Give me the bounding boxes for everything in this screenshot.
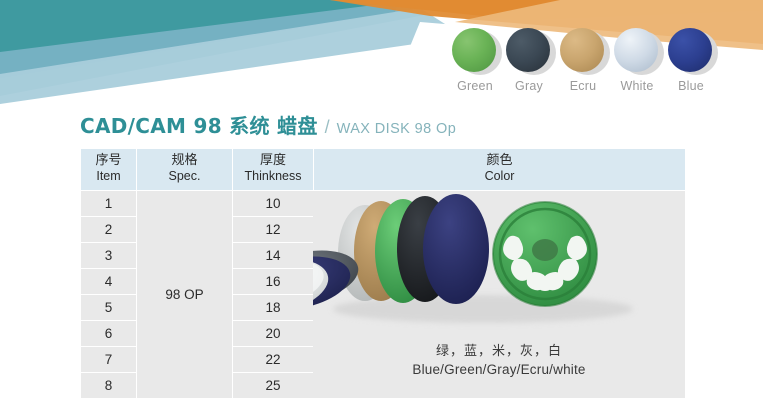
swatch-label-blue: Blue [664, 79, 718, 93]
table-header-spec-cn: 规格 [137, 154, 232, 169]
cell-item: 3 [81, 243, 137, 269]
swatch-circle-green [452, 28, 496, 72]
cell-thickness: 18 [233, 295, 314, 321]
cell-thickness: 25 [233, 373, 314, 399]
cell-item: 1 [81, 191, 137, 217]
swatch-gray: Gray [502, 28, 556, 93]
swatch-green: Green [448, 28, 502, 93]
page-title-cn: CAD/CAM 98 系统 蜡盘 [80, 110, 318, 139]
table-header-color: 颜色 Color [314, 149, 686, 191]
table-header-item-en: Item [81, 169, 136, 183]
swatch-circle-ecru [560, 28, 604, 72]
swatch-label-ecru: Ecru [556, 79, 610, 93]
wax-disk-stack-illustration [313, 191, 685, 341]
table-header-row: 序号 Item 规格 Spec. 厚度 Thinkness 颜色 Color [81, 149, 686, 191]
cell-item: 6 [81, 321, 137, 347]
cell-thickness: 20 [233, 321, 314, 347]
cell-thickness: 12 [233, 217, 314, 243]
swatch-blue: Blue [664, 28, 718, 93]
table-header-thickness: 厚度 Thinkness [233, 149, 314, 191]
cell-thickness: 14 [233, 243, 314, 269]
swatch-circle-white [614, 28, 658, 72]
cell-thickness: 22 [233, 347, 314, 373]
cell-item: 7 [81, 347, 137, 373]
page-title: CAD/CAM 98 系统 蜡盘 / WAX DISK 98 Op [80, 110, 456, 139]
table-header-item-cn: 序号 [81, 154, 136, 169]
table-header-thickness-cn: 厚度 [233, 154, 313, 169]
page-title-en: WAX DISK 98 Op [337, 121, 457, 137]
swatch-label-gray: Gray [502, 79, 556, 93]
cell-item: 4 [81, 269, 137, 295]
photo-caption-cn: 绿，蓝，米，灰，白 [313, 343, 685, 361]
swatch-circle-wrap-green [452, 28, 498, 74]
photo-caption: 绿，蓝，米，灰，白 Blue/Green/Gray/Ecru/white [313, 343, 685, 379]
cell-item: 2 [81, 217, 137, 243]
swatch-ecru: Ecru [556, 28, 610, 93]
page-title-separator: / [325, 117, 330, 138]
product-photo: 绿，蓝，米，灰，白 Blue/Green/Gray/Ecru/white [313, 191, 685, 398]
cell-item: 5 [81, 295, 137, 321]
color-swatch-strip: Green Gray Ecru White [448, 28, 718, 93]
table-header-spec: 规格 Spec. [137, 149, 233, 191]
disk-green-milled [493, 202, 597, 306]
swatch-label-white: White [610, 79, 664, 93]
table-header-color-cn: 颜色 [314, 154, 685, 169]
disk-navy [423, 194, 489, 304]
swatch-circle-blue [668, 28, 712, 72]
swatch-circle-gray [506, 28, 550, 72]
cell-spec: 98 OP [137, 191, 233, 399]
cell-item: 8 [81, 373, 137, 399]
swatch-circle-wrap-blue [668, 28, 714, 74]
swatch-circle-wrap-gray [506, 28, 552, 74]
swatch-circle-wrap-ecru [560, 28, 606, 74]
table-header-item: 序号 Item [81, 149, 137, 191]
cell-thickness: 10 [233, 191, 314, 217]
swatch-white: White [610, 28, 664, 93]
photo-caption-en: Blue/Green/Gray/Ecru/white [313, 361, 685, 379]
slide-canvas: Green Gray Ecru White [0, 0, 763, 415]
table-header-spec-en: Spec. [137, 169, 232, 183]
swatch-label-green: Green [448, 79, 502, 93]
swatch-circle-wrap-white [614, 28, 660, 74]
table-header-color-en: Color [314, 169, 685, 183]
table-header-thickness-en: Thinkness [233, 169, 313, 183]
green-milled-center-cavity [532, 239, 558, 261]
cell-thickness: 16 [233, 269, 314, 295]
